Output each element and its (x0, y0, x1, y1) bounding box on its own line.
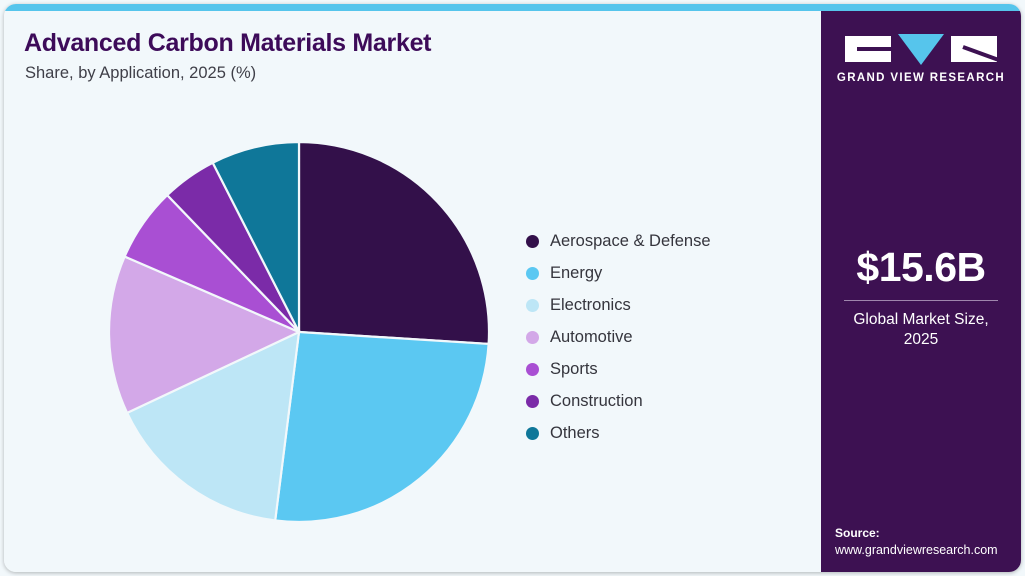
brand-panel: GRAND VIEW RESEARCH $15.6B Global Market… (821, 11, 1021, 572)
legend-item[interactable]: Others (526, 417, 806, 449)
stat-value: $15.6B (821, 247, 1021, 288)
infographic-root: Advanced Carbon Materials Market Share, … (0, 0, 1025, 576)
legend-item[interactable]: Electronics (526, 289, 806, 321)
legend-label: Automotive (550, 328, 633, 347)
market-size-stat: $15.6B Global Market Size, 2025 (821, 247, 1021, 351)
source-label: Source: (835, 526, 1015, 542)
legend-label: Energy (550, 264, 602, 283)
stat-caption: Global Market Size, 2025 (821, 310, 1021, 351)
pie-slice (299, 142, 489, 344)
logo-letter-r-icon (951, 36, 997, 62)
legend-item[interactable]: Automotive (526, 321, 806, 353)
pie-chart-svg (104, 137, 494, 527)
legend-swatch-icon (526, 235, 539, 248)
source-url[interactable]: www.grandviewresearch.com (835, 542, 1015, 559)
legend-item[interactable]: Energy (526, 257, 806, 289)
legend-item[interactable]: Sports (526, 353, 806, 385)
legend-item[interactable]: Aerospace & Defense (526, 225, 806, 257)
legend-label: Sports (550, 360, 598, 379)
top-accent-bar (4, 4, 1021, 11)
logo-letter-g-icon (845, 36, 891, 62)
triangle-down-icon (898, 34, 944, 65)
source-block: Source: www.grandviewresearch.com (835, 526, 1015, 558)
infographic-card: Advanced Carbon Materials Market Share, … (4, 4, 1021, 572)
logo-wordmark: GRAND VIEW RESEARCH (821, 72, 1021, 84)
legend-swatch-icon (526, 427, 539, 440)
pie-slice (275, 332, 488, 522)
legend-label: Construction (550, 392, 643, 411)
pie-chart (104, 137, 494, 527)
legend-swatch-icon (526, 267, 539, 280)
legend-swatch-icon (526, 299, 539, 312)
legend-swatch-icon (526, 331, 539, 344)
stat-divider (844, 300, 998, 301)
legend-label: Aerospace & Defense (550, 232, 711, 251)
logo-marks (821, 35, 1021, 63)
legend-label: Electronics (550, 296, 631, 315)
page-subtitle: Share, by Application, 2025 (%) (25, 64, 256, 83)
gvr-logo: GRAND VIEW RESEARCH (821, 35, 1021, 84)
legend-swatch-icon (526, 395, 539, 408)
chart-legend: Aerospace & DefenseEnergyElectronicsAuto… (526, 225, 806, 449)
page-title: Advanced Carbon Materials Market (24, 29, 431, 58)
legend-item[interactable]: Construction (526, 385, 806, 417)
chart-pane: Advanced Carbon Materials Market Share, … (4, 11, 821, 572)
legend-label: Others (550, 424, 600, 443)
legend-swatch-icon (526, 363, 539, 376)
